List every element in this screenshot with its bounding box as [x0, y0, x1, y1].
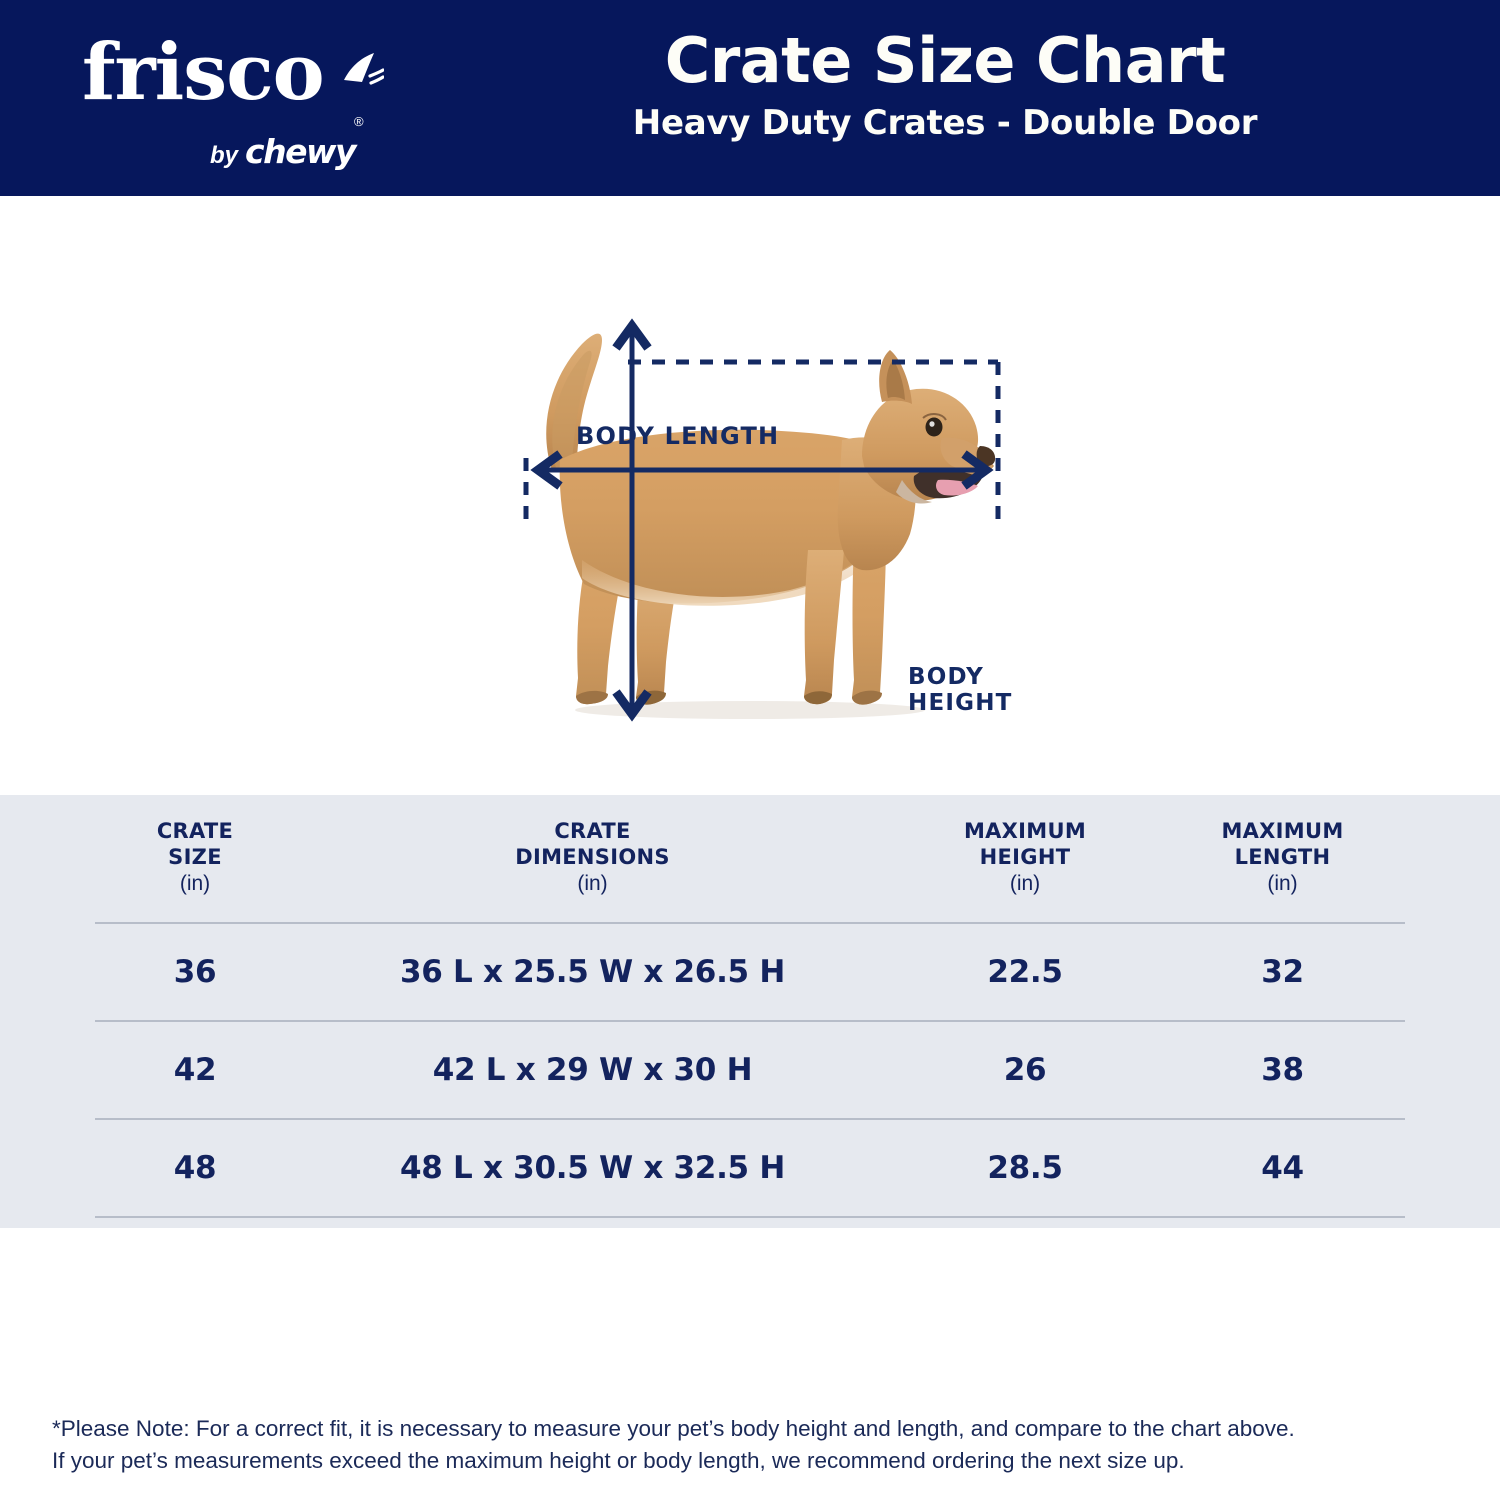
cell-maximum-length: 44: [1160, 1150, 1405, 1186]
footnote-line1: *Please Note: For a correct fit, it is n…: [52, 1413, 1462, 1445]
cell-crate-size: 36: [95, 954, 295, 990]
column-header-line2: HEIGHT: [890, 845, 1160, 871]
page-header: frisco ® by chewy Crate Size Chart Heavy…: [0, 0, 1500, 196]
page-subtitle: Heavy Duty Crates - Double Door: [430, 103, 1460, 144]
page-title: Crate Size Chart: [430, 28, 1460, 95]
column-header-unit: (in): [1160, 870, 1405, 897]
by-chewy-lockup: by chewy: [210, 132, 355, 171]
table-divider: [95, 1216, 1405, 1218]
footnote: *Please Note: For a correct fit, it is n…: [52, 1413, 1462, 1477]
cell-maximum-height: 28.5: [890, 1150, 1160, 1186]
column-header-line2: LENGTH: [1160, 845, 1405, 871]
cell-maximum-height: 26: [890, 1052, 1160, 1088]
cell-crate-dimensions: 48 L x 30.5 W x 32.5 H: [295, 1150, 890, 1186]
cell-maximum-length: 32: [1160, 954, 1405, 990]
column-header-line2: SIZE: [95, 845, 295, 871]
cell-crate-dimensions: 36 L x 25.5 W x 26.5 H: [295, 954, 890, 990]
body-height-label-line2: HEIGHT: [908, 691, 1013, 717]
column-header-line1: MAXIMUM: [1160, 819, 1405, 845]
swoosh-icon: [340, 50, 384, 105]
measurement-diagram-section: BODY LENGTH BODY HEIGHT: [0, 196, 1500, 795]
crate-size-table: CRATE SIZE (in) CRATE DIMENSIONS (in) MA…: [95, 795, 1405, 1218]
chewy-wordmark: chewy: [245, 132, 355, 171]
cell-maximum-height: 22.5: [890, 954, 1160, 990]
frisco-wordmark: frisco: [82, 36, 324, 110]
body-height-label: BODY HEIGHT: [908, 665, 1013, 717]
footnote-line2: If your pet’s measurements exceed the ma…: [52, 1445, 1462, 1477]
body-length-label: BODY LENGTH: [576, 422, 779, 450]
column-header-line1: CRATE: [95, 819, 295, 845]
crate-size-table-panel: CRATE SIZE (in) CRATE DIMENSIONS (in) MA…: [0, 795, 1500, 1228]
column-header-line1: CRATE: [295, 819, 890, 845]
column-header-crate-size: CRATE SIZE (in): [95, 819, 295, 898]
cell-crate-size: 48: [95, 1150, 295, 1186]
table-row: 42 42 L x 29 W x 30 H 26 38: [95, 1022, 1405, 1118]
cell-crate-size: 42: [95, 1052, 295, 1088]
column-header-crate-dimensions: CRATE DIMENSIONS (in): [295, 819, 890, 898]
column-header-unit: (in): [95, 870, 295, 897]
table-row: 36 36 L x 25.5 W x 26.5 H 22.5 32: [95, 924, 1405, 1020]
table-header-row: CRATE SIZE (in) CRATE DIMENSIONS (in) MA…: [95, 795, 1405, 922]
column-header-maximum-height: MAXIMUM HEIGHT (in): [890, 819, 1160, 898]
column-header-maximum-length: MAXIMUM LENGTH (in): [1160, 819, 1405, 898]
by-text: by: [210, 142, 238, 170]
body-height-label-line1: BODY: [908, 665, 1013, 691]
registered-trademark-icon: ®: [354, 114, 364, 129]
dog-measurement-diagram: BODY LENGTH BODY HEIGHT: [490, 310, 1030, 730]
frisco-by-chewy-logo: frisco ® by chewy: [62, 36, 382, 166]
cell-maximum-length: 38: [1160, 1052, 1405, 1088]
header-title-block: Crate Size Chart Heavy Duty Crates - Dou…: [430, 28, 1460, 144]
column-header-line1: MAXIMUM: [890, 819, 1160, 845]
table-row: 48 48 L x 30.5 W x 32.5 H 28.5 44: [95, 1120, 1405, 1216]
cell-crate-dimensions: 42 L x 29 W x 30 H: [295, 1052, 890, 1088]
column-header-line2: DIMENSIONS: [295, 845, 890, 871]
column-header-unit: (in): [890, 870, 1160, 897]
column-header-unit: (in): [295, 870, 890, 897]
